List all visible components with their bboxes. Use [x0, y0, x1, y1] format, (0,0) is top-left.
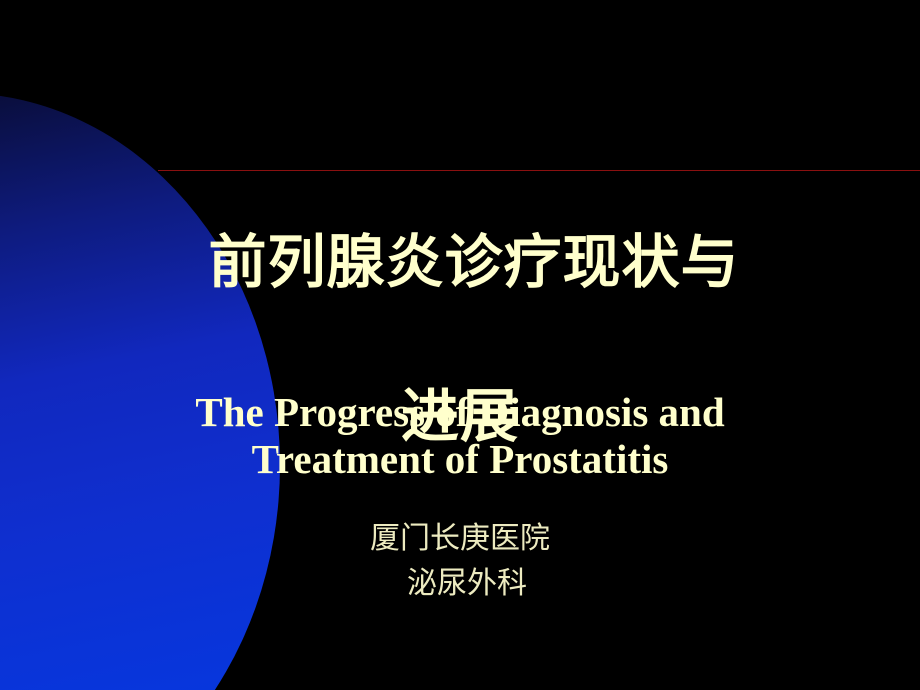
- page-subtitle-line-1: The Progress of Diagnosis and: [0, 389, 920, 436]
- presentation-slide: 前列腺炎诊疗现状与 进展 The Progress of Diagnosis a…: [0, 0, 920, 690]
- affiliation-department: 泌尿外科: [0, 561, 920, 606]
- page-subtitle: The Progress of Diagnosis and Treatment …: [0, 389, 920, 483]
- affiliation-block: 厦门长庚医院 泌尿外科: [0, 516, 920, 606]
- page-title-line-1: 前列腺炎诊疗现状与: [0, 224, 920, 301]
- affiliation-hospital: 厦门长庚医院: [0, 516, 920, 561]
- page-subtitle-line-2: Treatment of Prostatitis: [0, 436, 920, 483]
